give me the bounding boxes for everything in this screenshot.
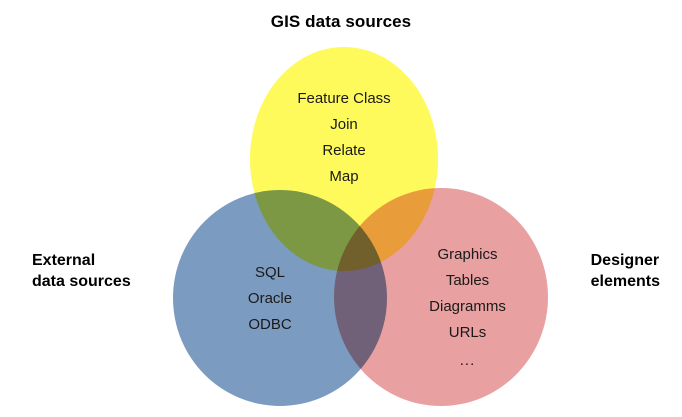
set-item: URLs	[400, 320, 535, 346]
set-label-external-line-2: data sources	[32, 271, 131, 292]
venn-diagram: GIS data sources External data sources D…	[0, 0, 682, 417]
set-item: Oracle	[205, 286, 335, 312]
set-item: Map	[254, 164, 434, 190]
set-item: Relate	[254, 138, 434, 164]
set-item: Feature Class	[254, 86, 434, 112]
set-label-external-data-sources: External data sources	[32, 250, 131, 292]
set-label-designer-elements: Designer elements	[591, 250, 660, 292]
set-label-designer-line-2: elements	[591, 271, 660, 292]
set-item: Graphics	[400, 242, 535, 268]
set-item: Tables	[400, 268, 535, 294]
set-items-gis-data-sources: Feature Class Join Relate Map	[254, 86, 434, 190]
set-item: Join	[254, 112, 434, 138]
set-item: ODBC	[205, 312, 335, 338]
set-item: Diagramms	[400, 294, 535, 320]
set-label-designer-line-1: Designer	[591, 250, 660, 271]
set-item: SQL	[205, 260, 335, 286]
set-item-ellipsis: ...	[400, 346, 535, 376]
set-items-designer-elements: Graphics Tables Diagramms URLs ...	[400, 242, 535, 376]
venn-circles-layer	[0, 0, 682, 417]
set-label-external-line-1: External	[32, 250, 131, 271]
set-items-external-data-sources: SQL Oracle ODBC	[205, 260, 335, 338]
